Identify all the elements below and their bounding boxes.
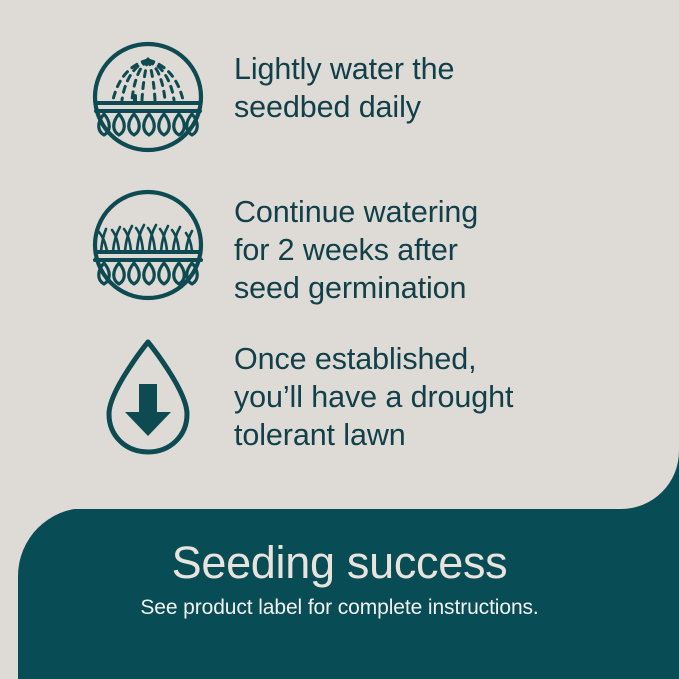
footer-title: Seeding success: [0, 536, 679, 590]
footer-subtitle: See product label for complete instructi…: [0, 594, 679, 622]
water-droplet-down-arrow-icon: [88, 332, 208, 464]
sprinkler-watering-seedbed-icon: [88, 34, 208, 160]
step-item-3: Once established, you’ll have a drought …: [88, 332, 513, 464]
step-label-1: Lightly water the seedbed daily: [234, 34, 454, 126]
step-label-3: Once established, you’ll have a drought …: [234, 332, 513, 454]
grass-sprouting-seedbed-icon: [88, 182, 208, 308]
step-item-1: Lightly water the seedbed daily: [88, 34, 454, 160]
footer-content: Seeding success See product label for co…: [0, 536, 679, 622]
step-item-2: Continue watering for 2 weeks after seed…: [88, 182, 478, 308]
seeding-instructions-infographic: Lightly water the seedbed daily: [0, 0, 679, 679]
step-label-2: Continue watering for 2 weeks after seed…: [234, 182, 478, 307]
